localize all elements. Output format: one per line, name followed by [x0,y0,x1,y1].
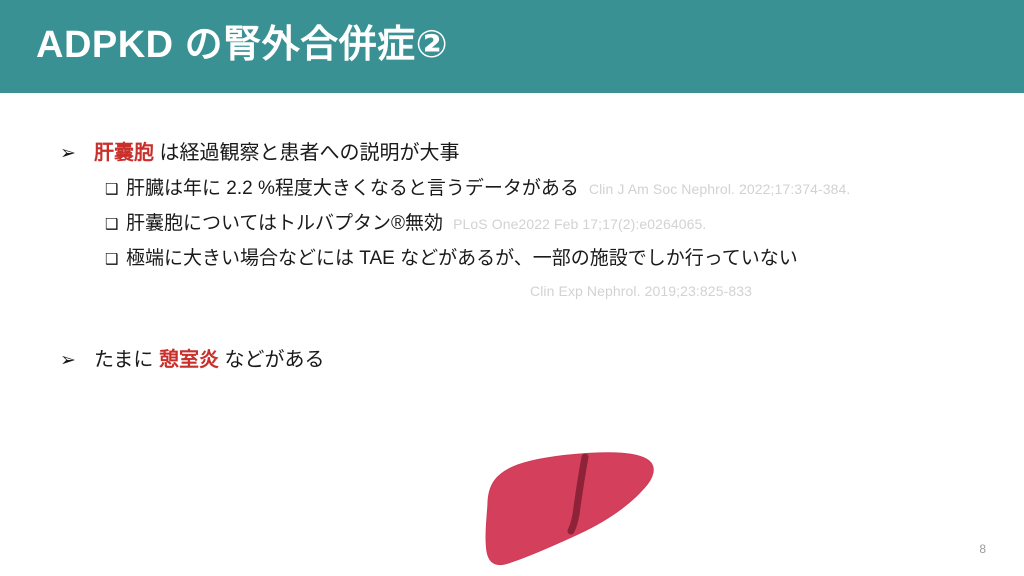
liver-body-shape [486,453,653,565]
bullet-level2-body: 肝囊胞についてはトルバプタン®無効 [126,213,443,234]
bullet-level1-rest: などがある [219,349,325,371]
bullet-level2-tae: ❑ 極端に大きい場合などには TAE などがあるが、一部の施設でしか行っていない [105,248,798,271]
bullet-level2-growth-rate: ❑ 肝臓は年に 2.2 %程度大きくなると言うデータがあるClin J Am S… [105,178,850,201]
arrow-bullet-icon: ➢ [60,351,94,370]
bullet-level1-rest: は経過観察と患者への説明が大事 [154,142,460,164]
citation-reference-standalone: Clin Exp Nephrol. 2019;23:825-833 [530,283,752,299]
bullet-level2-tolvaptan: ❑ 肝囊胞についてはトルバプタン®無効PLoS One2022 Feb 17;1… [105,213,706,236]
citation-reference: Clin J Am Soc Nephrol. 2022;17:374-384. [589,181,851,197]
citation-reference: PLoS One2022 Feb 17;17(2):e0264065. [453,216,706,232]
liver-illustration [466,445,666,575]
slide-body: ➢ 肝囊胞 は経過観察と患者への説明が大事 ❑ 肝臓は年に 2.2 %程度大きく… [0,93,1024,576]
bullet-level1-liver-cyst: ➢ 肝囊胞 は経過観察と患者への説明が大事 [60,141,460,165]
square-bullet-icon: ❑ [105,182,126,197]
bullet-level2-text: 肝囊胞についてはトルバプタン®無効PLoS One2022 Feb 17;17(… [126,213,706,236]
bullet-level2-body: 極端に大きい場合などには TAE などがあるが、一部の施設でしか行っていない [126,248,798,269]
highlight-diverticulitis: 憩室炎 [159,349,219,371]
bullet-level1-text: たまに 憩室炎 などがある [94,348,325,372]
bullet-level1-prefix: たまに [94,349,159,371]
slide-canvas: ADPKD の腎外合併症② ➢ 肝囊胞 は経過観察と患者への説明が大事 ❑ 肝臓… [0,0,1024,576]
page-title: ADPKD の腎外合併症② [36,21,448,69]
arrow-bullet-icon: ➢ [60,144,94,163]
bullet-level2-body: 肝臓は年に 2.2 %程度大きくなると言うデータがある [126,178,579,199]
highlight-liver-cyst: 肝囊胞 [94,142,154,164]
page-number: 8 [979,542,986,556]
bullet-level1-text: 肝囊胞 は経過観察と患者への説明が大事 [94,141,460,165]
liver-icon [466,445,666,575]
bullet-level1-diverticulitis: ➢ たまに 憩室炎 などがある [60,348,325,372]
bullet-level2-text: 肝臓は年に 2.2 %程度大きくなると言うデータがあるClin J Am Soc… [126,178,850,201]
square-bullet-icon: ❑ [105,252,126,267]
bullet-level2-text: 極端に大きい場合などには TAE などがあるが、一部の施設でしか行っていない [126,248,798,271]
square-bullet-icon: ❑ [105,217,126,232]
